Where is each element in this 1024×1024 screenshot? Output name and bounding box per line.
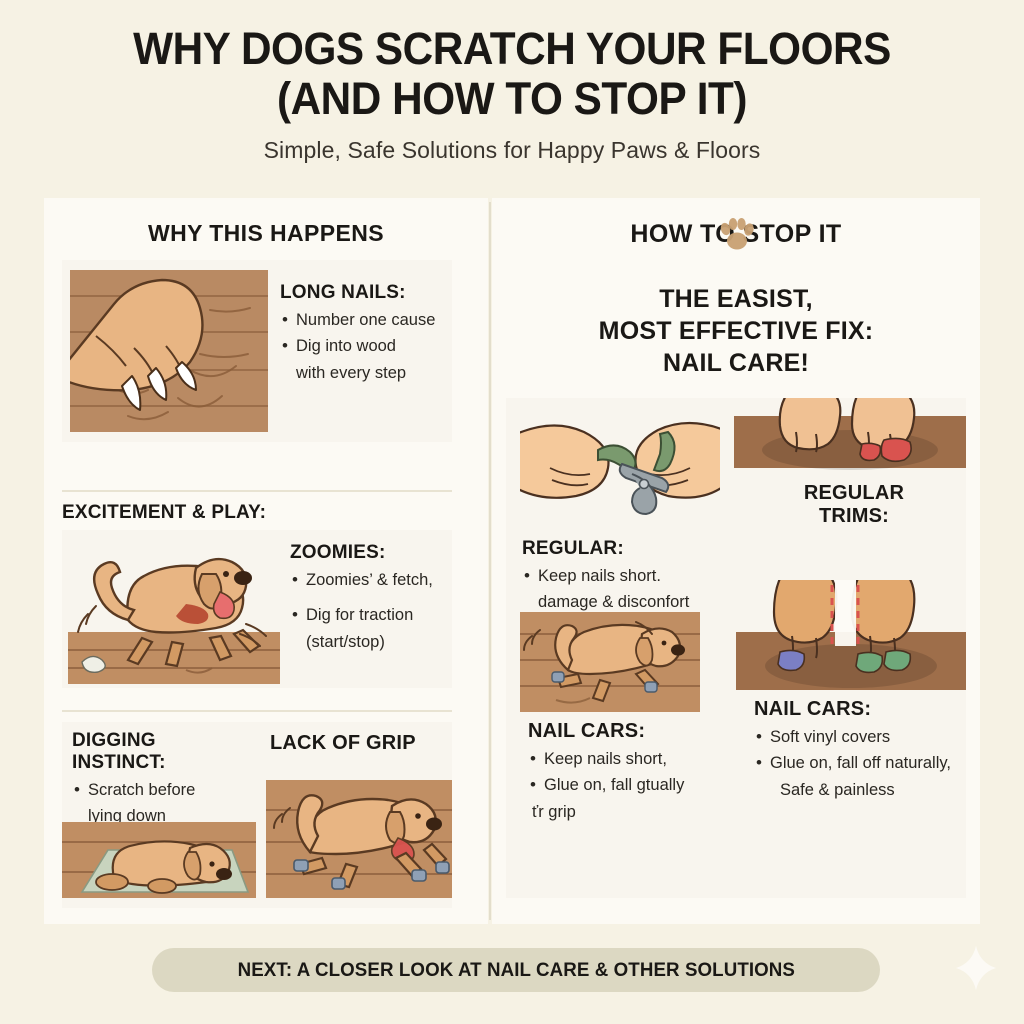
fix-line-2: MOST EFFECTIVE FIX:	[510, 315, 962, 347]
fix-line-3: NAIL CARE!	[510, 347, 962, 379]
card-regular-title: REGULAR:	[522, 538, 742, 560]
list-item: Dig into wood	[280, 336, 446, 357]
vinyl-nail-caps-illustration	[736, 580, 966, 690]
page-title-line1: WHY DOGS SCRATCH YOUR FLOORS	[68, 24, 955, 74]
divider	[62, 710, 452, 712]
card-digging-instinct-bullets: Scratch before lying down	[72, 780, 254, 828]
card-long-nails-title: LONG NAILS:	[280, 282, 446, 304]
card-zoomies-title: ZOOMIES:	[290, 542, 446, 564]
list-item: Scratch before	[72, 780, 254, 801]
dog-slipping-illustration	[266, 780, 452, 898]
paws-on-floor-illustration	[734, 398, 966, 472]
right-cards-container: REGULAR TRIMS: REGULAR: Keep nails short…	[506, 398, 966, 898]
page-header: WHY DOGS SCRATCH YOUR FLOORS (AND HOW TO…	[0, 0, 1024, 164]
card-nail-caps-left: NAIL CARS: Keep nails short, Glue on, fa…	[528, 720, 728, 828]
right-panel-heading: HOW TO STOP IT	[510, 220, 962, 249]
list-item: Keep nails short,	[528, 749, 728, 770]
content-columns: WHY THIS HAPPENS	[44, 198, 980, 924]
card-nail-caps-right-title: NAIL CARS:	[754, 698, 970, 721]
fix-line-1: THE EASIST,	[510, 283, 962, 315]
card-nail-caps-left-title: NAIL CARS:	[528, 720, 728, 743]
page-title-line2: (AND HOW TO STOP IT)	[68, 74, 955, 124]
card-digging-instinct: DIGGING INSTINCT: Scratch before lying d…	[62, 722, 452, 908]
list-item-continuation: damage & disconfort	[522, 592, 742, 613]
nail-clipper-illustration	[520, 416, 720, 524]
card-long-nails: LONG NAILS: Number one cause Dig into wo…	[62, 260, 452, 442]
left-panel: WHY THIS HAPPENS	[44, 198, 488, 924]
regular-trims-title: REGULAR TRIMS:	[754, 482, 954, 528]
list-item: Soft vinyl covers	[754, 727, 970, 748]
dog-zoomies-illustration	[68, 534, 280, 684]
sparkle-icon	[950, 942, 1002, 994]
divider	[62, 490, 452, 492]
card-regular: REGULAR: Keep nails short. damage & disc…	[522, 538, 742, 619]
regular-trims-title-line2: TRIMS:	[754, 505, 954, 528]
card-excitement-play-body: ZOOMIES: Zoomies’ & fetch, Dig for tract…	[62, 530, 452, 688]
list-item-continuation: ťr grip	[528, 802, 728, 823]
dog-running-nail-caps-illustration	[520, 612, 700, 712]
card-nail-caps-left-bullets: Keep nails short, Glue on, fall ɡtually …	[528, 749, 728, 823]
dog-lying-on-mat-illustration	[62, 822, 256, 898]
next-banner[interactable]: NEXT: A CLOSER LOOK AT NAIL CARE & OTHER…	[152, 948, 880, 992]
right-panel-fix-heading: THE EASIST, MOST EFFECTIVE FIX: NAIL CAR…	[510, 283, 962, 379]
card-regular-bullets: Keep nails short. damage & disconfort	[522, 566, 742, 614]
card-lack-of-grip-title: LACK OF GRIP	[270, 732, 416, 755]
list-item: Glue on, fall off naturally,	[754, 753, 970, 774]
regular-trims-title-line1: REGULAR	[754, 482, 954, 505]
paw-scratching-wood-illustration	[70, 270, 268, 432]
card-nail-caps-right-bullets: Soft vinyl covers Glue on, fall off natu…	[754, 727, 970, 801]
card-long-nails-bullets: Number one cause Dig into wood with ever…	[280, 310, 446, 384]
card-excitement-play: EXCITEMENT & PLAY:	[62, 502, 452, 524]
list-item: Number one cause	[280, 310, 446, 331]
card-excitement-play-title: EXCITEMENT & PLAY:	[62, 502, 452, 524]
page-subtitle: Simple, Safe Solutions for Happy Paws & …	[40, 137, 984, 164]
list-item: Dig for traction	[290, 605, 446, 626]
card-nail-caps-right: NAIL CARS: Soft vinyl covers Glue on, fa…	[754, 698, 970, 806]
left-panel-heading: WHY THIS HAPPENS	[62, 220, 470, 247]
list-item: Keep nails short.	[522, 566, 742, 587]
list-item: Zoomies’ & fetch,	[290, 570, 446, 591]
right-panel: HOW TO STOP IT THE EASIST, MOST EFFECTIV…	[492, 198, 980, 924]
list-item: Glue on, fall ɡtually	[528, 775, 728, 796]
next-banner-label: NEXT: A CLOSER LOOK AT NAIL CARE & OTHER…	[237, 959, 794, 982]
card-digging-instinct-title: DIGGING INSTINCT:	[72, 730, 254, 774]
card-zoomies-bullets: Zoomies’ & fetch, Dig for traction (star…	[290, 570, 446, 653]
list-item-continuation: with every step	[280, 363, 446, 384]
list-item-continuation: Safe & painless	[754, 780, 970, 801]
list-item-continuation: (start/stop)	[290, 632, 446, 653]
